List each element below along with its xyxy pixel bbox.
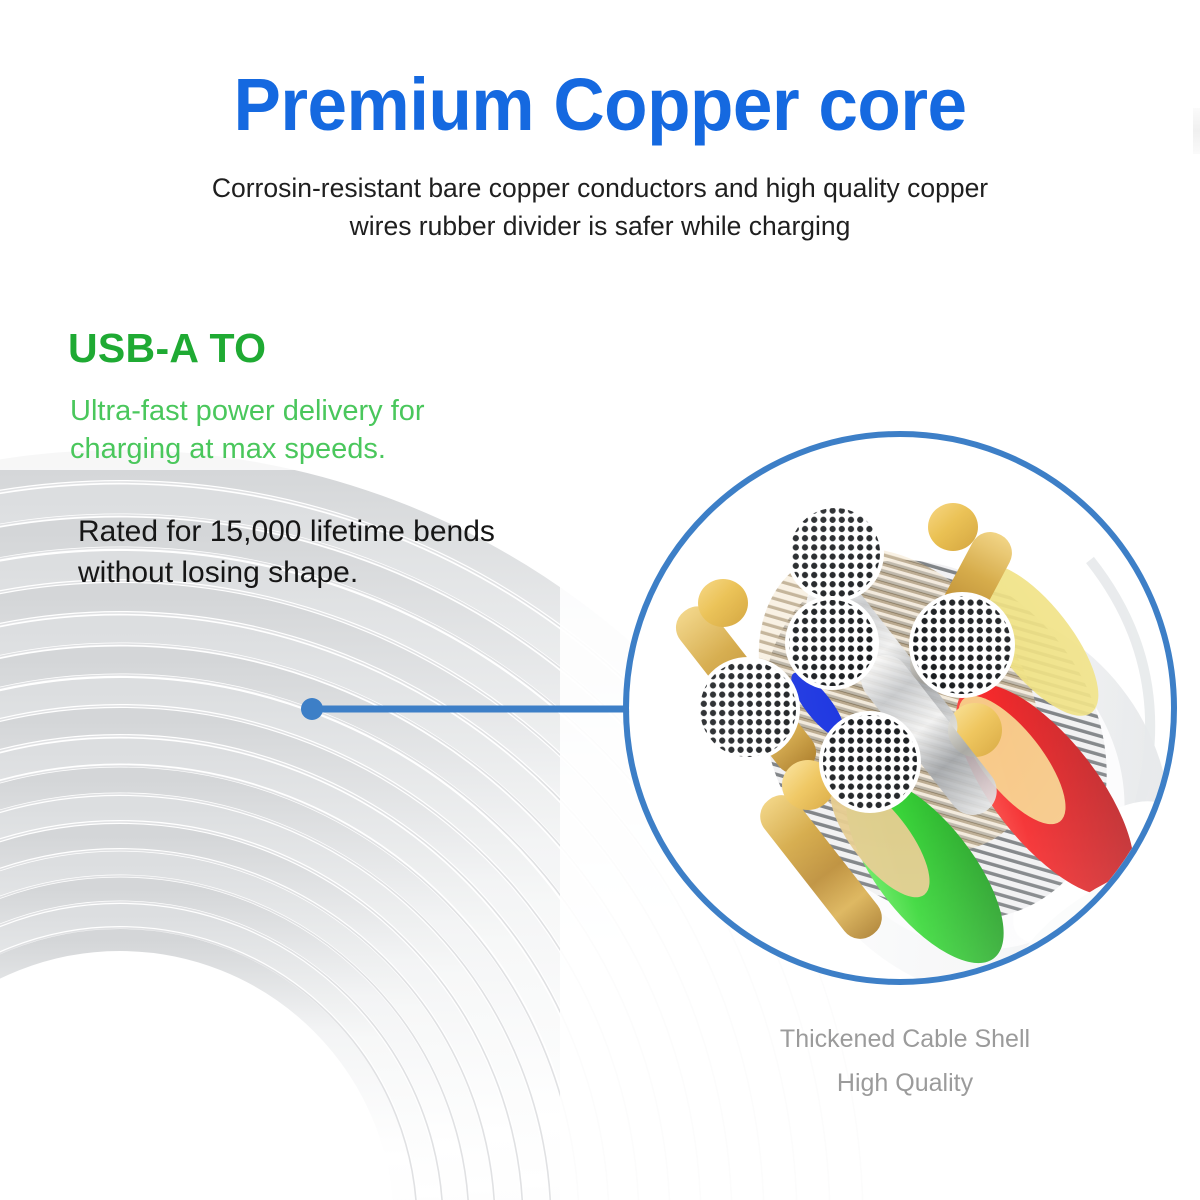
usb-section-heading: USB-A TO	[68, 325, 266, 372]
subtitle-line-2: wires rubber divider is safer while char…	[180, 208, 1020, 246]
usb-body-line-2: charging at max speeds.	[70, 430, 540, 468]
subtitle-line-1: Corrosin-resistant bare copper conductor…	[180, 170, 1020, 208]
page-title: Premium Copper core	[24, 66, 1176, 144]
usb-body-line-1: Ultra-fast power delivery for	[70, 392, 540, 430]
durability-line-1: Rated for 15,000 lifetime bends	[78, 512, 578, 553]
shell-caption-line-2: High Quality	[700, 1062, 1110, 1106]
callout-anchor-dot	[301, 698, 323, 720]
shell-caption-line-1: Thickened Cable Shell	[700, 1018, 1110, 1062]
durability-text: Rated for 15,000 lifetime bends without …	[78, 512, 578, 593]
shell-caption: Thickened Cable Shell High Quality	[700, 1018, 1110, 1106]
usb-section-body: Ultra-fast power delivery for charging a…	[70, 392, 540, 469]
subtitle: Corrosin-resistant bare copper conductor…	[180, 170, 1020, 245]
product-feature-image: Premium Copper core Corrosin-resistant b…	[0, 0, 1200, 1200]
durability-line-2: without losing shape.	[78, 553, 578, 594]
